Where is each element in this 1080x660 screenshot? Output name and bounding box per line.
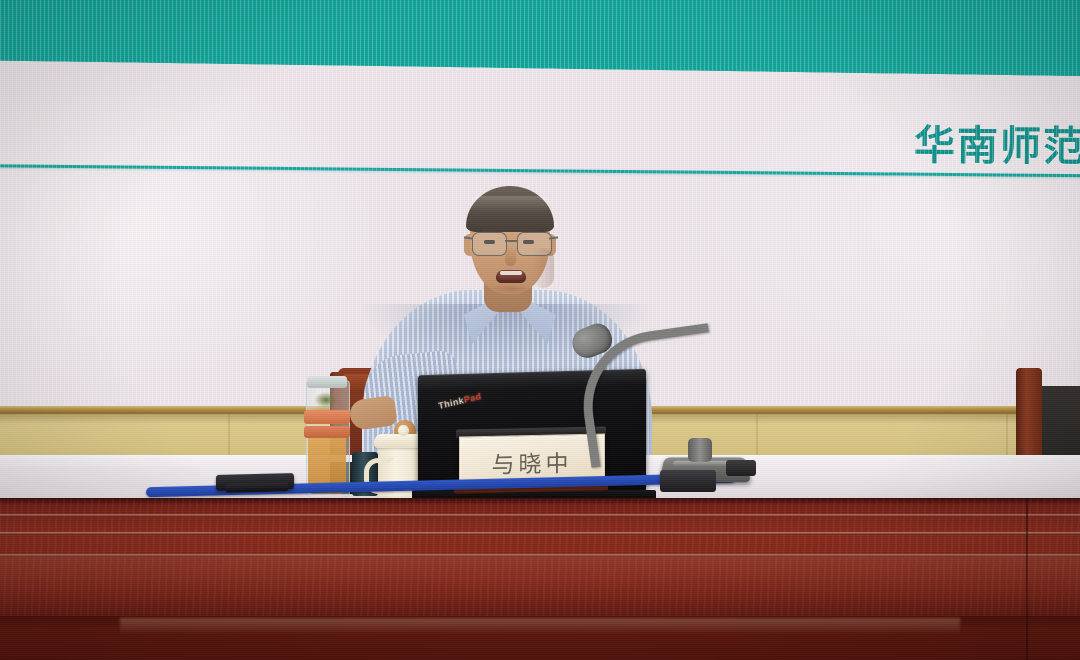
mouth	[496, 270, 526, 283]
desk-vertical-seam	[1026, 498, 1028, 660]
speaker-hair	[466, 186, 554, 232]
desk-gloss	[0, 556, 1080, 618]
desk-front-panel	[0, 498, 1080, 660]
desk-lower-gloss	[120, 618, 960, 634]
desk-object-right	[660, 470, 716, 492]
tumbler-tea-leaves	[314, 392, 338, 408]
desk-molding	[0, 514, 1080, 517]
tumbler-grip-band-lower	[304, 426, 350, 438]
mug-lid-knob	[398, 425, 409, 436]
tumbler-grip-band-upper	[304, 410, 350, 424]
microphone-plug	[726, 460, 756, 476]
thinkpad-logo-prefix: Think	[438, 395, 465, 411]
desk-lip	[0, 498, 1080, 504]
thinkpad-logo-suffix: Pad	[463, 391, 482, 405]
tumbler-cap	[307, 376, 347, 388]
desk-phone-base	[226, 482, 288, 493]
chin-shading	[488, 284, 534, 294]
glasses-bridge	[505, 240, 517, 242]
backdrop-light-bloom-left	[0, 60, 400, 390]
glasses-lens-right	[517, 232, 552, 256]
desk-molding	[0, 532, 1080, 535]
backdrop-headline: 华南师范	[914, 111, 1080, 172]
nose	[505, 246, 516, 266]
glasses-lens-left	[472, 232, 507, 256]
tea-tumbler	[306, 380, 348, 496]
name-plate-text: 与晓中	[492, 444, 573, 480]
thinkpad-logo: ThinkPad	[438, 391, 483, 411]
photo-scene: 华南师范	[0, 0, 1080, 660]
